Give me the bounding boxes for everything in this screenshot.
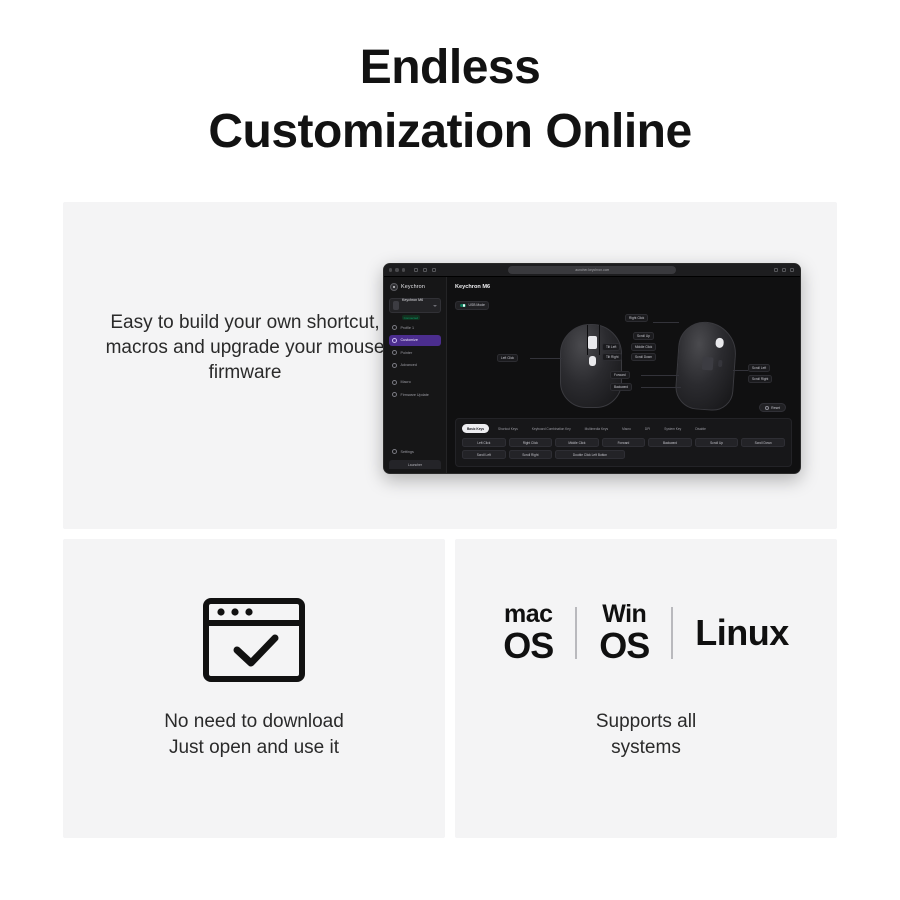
divider xyxy=(575,607,577,659)
mouse-diagram: Right Click Left Click Scroll Up Tilt Le… xyxy=(455,312,792,416)
caption-line-1: No need to download xyxy=(164,711,344,732)
mouse-icon xyxy=(393,301,399,310)
key-button-grid: Left Click Right Click Middle Click Forw… xyxy=(462,438,785,459)
page-title: Endless Customization Online xyxy=(0,36,900,164)
device-status-badge: Connected xyxy=(402,315,420,320)
forward-arrow-icon[interactable] xyxy=(432,268,436,272)
sidebar-item-macro[interactable]: Macro xyxy=(389,377,441,388)
sidebar-item-label: Customize xyxy=(401,338,418,342)
os-logo-linux: Linux xyxy=(695,615,789,651)
diagram-label-backward: Backward xyxy=(610,383,632,391)
mouse-top-view xyxy=(560,324,622,408)
chevron-down-icon[interactable] xyxy=(433,305,437,307)
launcher-app-screenshot: launcher.keychron.com Keychron xyxy=(383,263,801,474)
maximize-icon[interactable] xyxy=(402,268,405,271)
os-logo-macos: mac OS xyxy=(503,602,553,664)
caption-line-1: Supports all xyxy=(596,711,696,732)
launcher-tab[interactable]: Launcher xyxy=(389,460,441,469)
key-assignment-panel: Basic Keys Shortcut Keys Keyboard Combin… xyxy=(455,418,792,467)
key-button[interactable]: Scroll Right xyxy=(509,450,553,459)
mouse-seam xyxy=(599,325,600,355)
diagram-label-middle-click: Middle Click xyxy=(631,343,656,351)
key-button[interactable]: Scroll Up xyxy=(695,438,739,447)
sidebar-item-profile[interactable]: Profile 1 xyxy=(389,322,441,333)
sidebar-item-label: Advanced xyxy=(401,363,417,367)
sidebar-item-label: Profile 1 xyxy=(401,326,415,330)
diagram-label-forward: Forward xyxy=(610,371,630,379)
sidebar-toggle-icon[interactable] xyxy=(414,268,418,272)
key-button[interactable]: Forward xyxy=(602,438,646,447)
window-controls[interactable] xyxy=(389,268,405,271)
mouse-scroll-wheel xyxy=(715,338,724,349)
key-button[interactable]: Scroll Left xyxy=(462,450,506,459)
feature-card-os-support: mac OS Win OS Linux Supports all systems xyxy=(455,539,837,838)
key-button[interactable]: Right Click xyxy=(509,438,553,447)
profile-icon xyxy=(392,325,397,330)
sidebar-footer: Settings Launcher xyxy=(389,446,441,469)
launcher-tab-label: Launcher xyxy=(408,463,422,467)
page-title-line-1: Endless xyxy=(360,41,541,94)
key-button[interactable]: Scroll Down xyxy=(741,438,785,447)
tabs-overview-icon[interactable] xyxy=(790,268,794,272)
app-body: Keychron Keychron M6 Connected P xyxy=(384,277,800,473)
mouse-side-buttons xyxy=(702,357,714,371)
sidebar-item-advanced[interactable]: Advanced xyxy=(389,360,441,371)
diagram-label-tilt-right: Tilt Right xyxy=(602,353,622,361)
diagram-label-right-click: Right Click xyxy=(625,314,648,322)
sidebar-item-firmware-update[interactable]: Firmware Update xyxy=(389,389,441,400)
diagram-label-scroll-up: Scroll Up xyxy=(633,332,654,340)
toggle-switch-icon[interactable] xyxy=(460,304,466,307)
tab-basic-keys[interactable]: Basic Keys xyxy=(462,424,489,433)
diagram-label-left-click: Left Click xyxy=(497,354,518,362)
app-sidebar: Keychron Keychron M6 Connected P xyxy=(384,277,447,473)
mouse-seam xyxy=(587,325,588,355)
os-label: Linux xyxy=(695,615,789,651)
address-bar-value: launcher.keychron.com xyxy=(575,268,610,272)
nav-group-primary: Profile 1 Customize Pointer Advance xyxy=(389,322,441,371)
keychron-logo-icon xyxy=(390,283,398,291)
page-title-line-2: Customization Online xyxy=(0,100,900,164)
os-label-top: Win xyxy=(602,602,646,627)
sidebar-item-label: Settings xyxy=(401,450,414,454)
browser-right-icons[interactable] xyxy=(774,268,794,272)
os-logo-winos: Win OS xyxy=(599,602,649,664)
diagram-label-scroll-left: Scroll Left xyxy=(748,364,770,372)
firmware-icon xyxy=(392,392,397,397)
close-icon[interactable] xyxy=(389,268,392,271)
reset-label: Reset xyxy=(771,406,780,410)
key-button[interactable]: Double Click Left Button xyxy=(555,450,625,459)
tab-dpi[interactable]: DPI xyxy=(640,424,655,433)
tab-keyboard-combination-key[interactable]: Keyboard Combination Key xyxy=(527,424,576,433)
sidebar-item-label: Pointer xyxy=(401,351,413,355)
os-label-bottom: OS xyxy=(599,628,649,664)
usb-mode-label: USB Mode xyxy=(469,303,485,307)
sidebar-item-settings[interactable]: Settings xyxy=(389,446,441,457)
feature-caption: No need to download Just open and use it xyxy=(63,709,445,761)
tab-multimedia-keys[interactable]: Multimedia Keys xyxy=(580,424,613,433)
os-label-top: mac xyxy=(504,602,553,627)
feature-card-no-download: No need to download Just open and use it xyxy=(63,539,445,838)
tab-system-key[interactable]: System Key xyxy=(659,424,686,433)
reset-icon xyxy=(765,406,769,410)
gear-icon xyxy=(392,449,397,454)
macro-icon xyxy=(392,380,397,385)
diagram-label-tilt-left: Tilt Left xyxy=(602,343,620,351)
sidebar-item-label: Firmware Update xyxy=(401,393,429,397)
leader-line xyxy=(530,358,562,359)
advanced-icon xyxy=(392,363,397,368)
address-bar[interactable]: launcher.keychron.com xyxy=(508,266,676,274)
os-logo-row: mac OS Win OS Linux xyxy=(455,602,837,664)
device-selector[interactable]: Keychron M6 Connected xyxy=(389,298,441,313)
customize-icon xyxy=(392,338,397,343)
new-tab-icon[interactable] xyxy=(782,268,786,272)
os-label-bottom: OS xyxy=(503,628,553,664)
browser-nav-icons[interactable] xyxy=(414,268,436,272)
device-name: Keychron M6 xyxy=(402,298,423,302)
device-meta: Keychron M6 Connected xyxy=(402,288,430,324)
tab-disable[interactable]: Disable xyxy=(690,424,711,433)
diagram-label-scroll-down: Scroll Down xyxy=(631,353,656,361)
sidebar-item-label: Macro xyxy=(401,380,411,384)
leader-line xyxy=(641,375,679,376)
tab-shortcut-keys[interactable]: Shortcut Keys xyxy=(493,424,523,433)
sidebar-item-customize[interactable]: Customize xyxy=(389,335,441,346)
tab-macro[interactable]: Macro xyxy=(617,424,636,433)
feature-description: Easy to build your own shortcut, macros … xyxy=(95,310,395,385)
caption-line-2: systems xyxy=(611,737,681,758)
mouse-side-view xyxy=(674,320,738,412)
minimize-icon[interactable] xyxy=(395,268,398,271)
share-icon[interactable] xyxy=(774,268,778,272)
nav-group-secondary: Macro Firmware Update xyxy=(389,377,441,401)
leader-line xyxy=(641,387,681,388)
app-main-panel: Keychron M6 USB Mode xyxy=(447,277,800,473)
key-button[interactable]: Left Click xyxy=(462,438,506,447)
main-device-title: Keychron M6 xyxy=(455,284,792,290)
leader-line xyxy=(653,322,679,323)
caption-line-2: Just open and use it xyxy=(169,737,339,758)
product-feature-page: Endless Customization Online Easy to bui… xyxy=(0,0,900,900)
browser-check-icon xyxy=(202,597,306,688)
leader-line xyxy=(733,370,748,371)
mouse-middle-button xyxy=(589,356,596,366)
mouse-scroll-wheel xyxy=(588,336,597,349)
reset-button[interactable]: Reset xyxy=(759,403,786,412)
usb-mode-toggle[interactable]: USB Mode xyxy=(455,301,489,310)
feature-caption: Supports all systems xyxy=(455,709,837,761)
diagram-label-scroll-right: Scroll Right xyxy=(748,375,772,383)
feature-card-customization: Easy to build your own shortcut, macros … xyxy=(63,202,837,529)
sidebar-item-pointer[interactable]: Pointer xyxy=(389,347,441,358)
pointer-icon xyxy=(392,350,397,355)
key-category-tabs: Basic Keys Shortcut Keys Keyboard Combin… xyxy=(462,424,785,433)
mouse-thumb-button xyxy=(718,360,722,367)
back-arrow-icon[interactable] xyxy=(423,268,427,272)
key-button[interactable]: Backward xyxy=(648,438,692,447)
divider xyxy=(671,607,673,659)
browser-titlebar: launcher.keychron.com xyxy=(384,264,800,277)
key-button[interactable]: Middle Click xyxy=(555,438,599,447)
